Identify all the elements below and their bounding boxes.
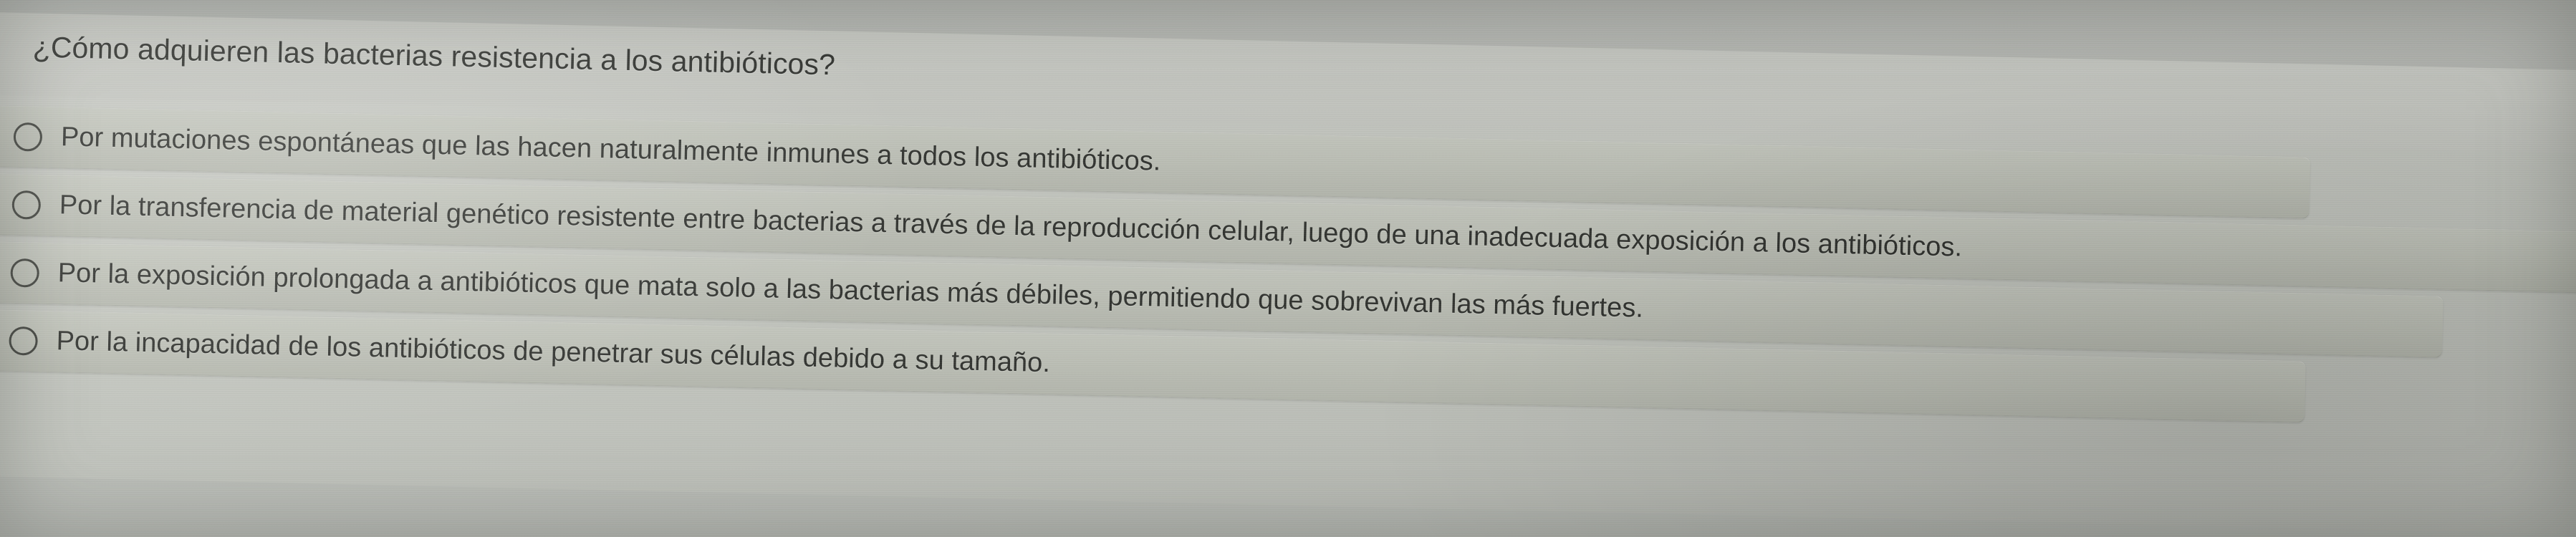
option-label-4: Por la incapacidad de los antibióticos d… [56,325,1050,380]
option-label-3: Por la exposición prolongada a antibióti… [57,257,1643,325]
radio-unselected-icon[interactable] [10,258,39,288]
quiz-screen-photo: ¿Cómo adquieren las bacterias resistenci… [0,0,2576,537]
option-label-1: Por mutaciones espontáneas que las hacen… [60,122,1160,179]
quiz-surface: ¿Cómo adquieren las bacterias resistenci… [0,0,2576,537]
radio-unselected-icon[interactable] [11,190,41,220]
radio-unselected-icon[interactable] [14,122,43,152]
radio-unselected-icon[interactable] [9,326,38,356]
